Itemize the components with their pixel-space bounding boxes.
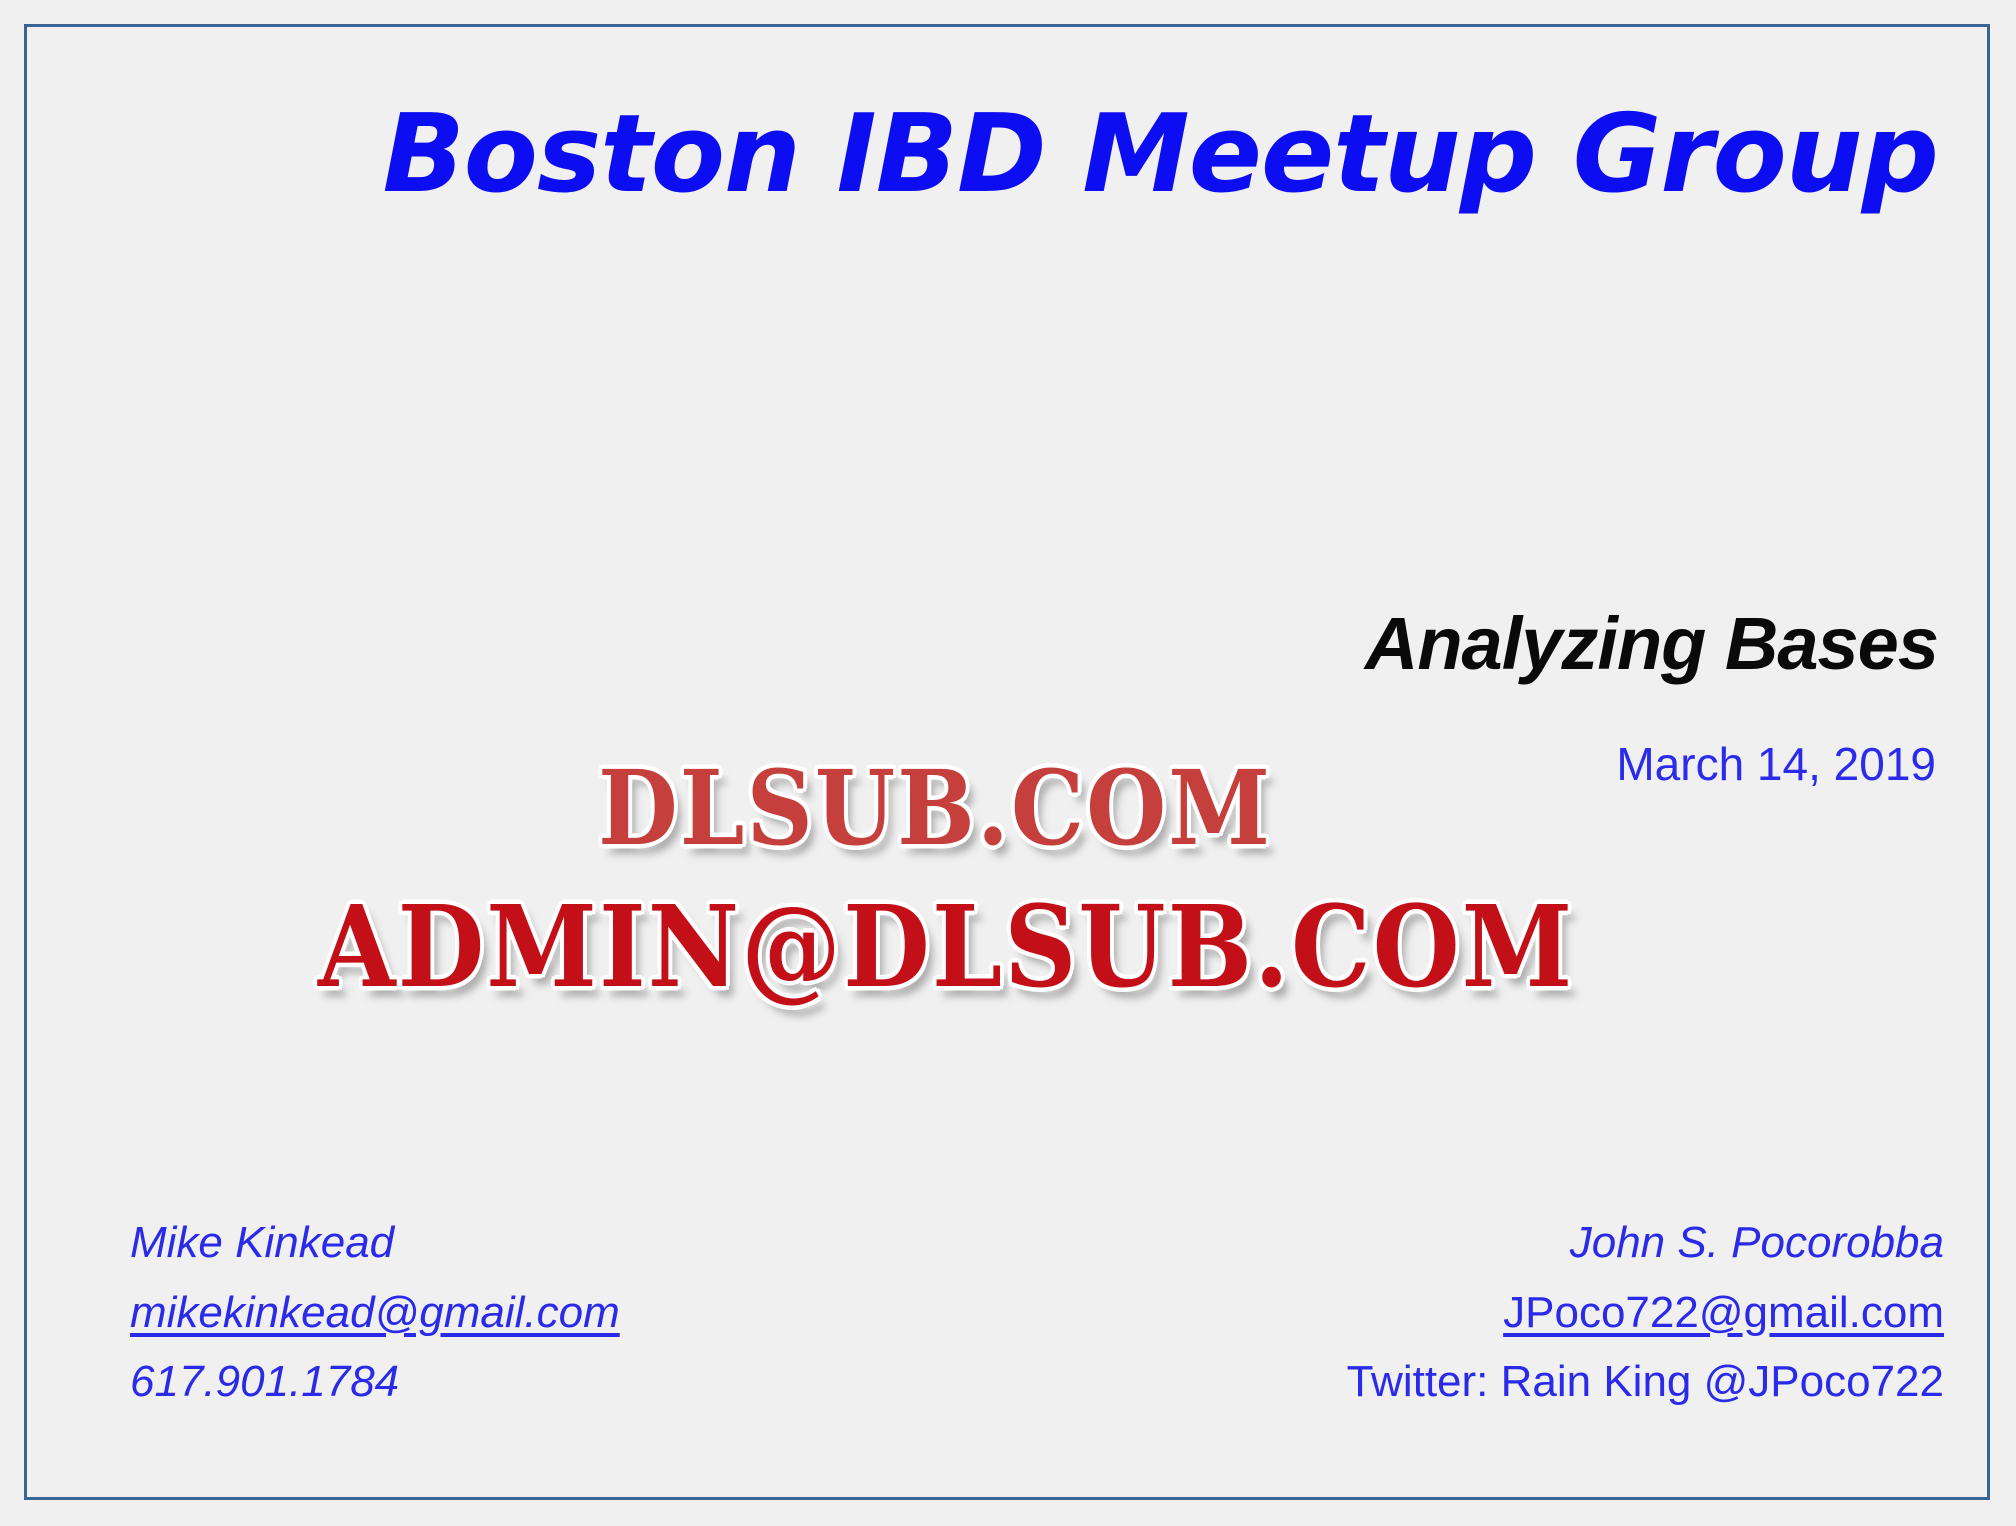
contact-right-name: John S. Pocorobba bbox=[1347, 1208, 1944, 1278]
presentation-slide: Boston IBD Meetup Group Analyzing Bases … bbox=[0, 0, 2016, 1526]
page-title: Boston IBD Meetup Group bbox=[0, 96, 1938, 215]
contact-block-left: Mike Kinkead mikekinkead@gmail.com 617.9… bbox=[130, 1208, 620, 1417]
contact-left-email-link[interactable]: mikekinkead@gmail.com bbox=[130, 1278, 620, 1348]
contact-left-name: Mike Kinkead bbox=[130, 1208, 620, 1278]
watermark-site-url: DLSUB.COM bbox=[598, 756, 1272, 859]
watermark-site-email: ADMIN@DLSUB.COM bbox=[318, 891, 1574, 1003]
contact-block-right: John S. Pocorobba JPoco722@gmail.com Twi… bbox=[1347, 1208, 1944, 1417]
slide-subtitle: Analyzing Bases bbox=[1365, 605, 1938, 683]
contact-left-phone: 617.901.1784 bbox=[130, 1347, 620, 1417]
contact-right-twitter: Twitter: Rain King @JPoco722 bbox=[1347, 1347, 1944, 1417]
contact-right-email-link[interactable]: JPoco722@gmail.com bbox=[1347, 1278, 1944, 1348]
slide-date: March 14, 2019 bbox=[1616, 737, 1936, 791]
